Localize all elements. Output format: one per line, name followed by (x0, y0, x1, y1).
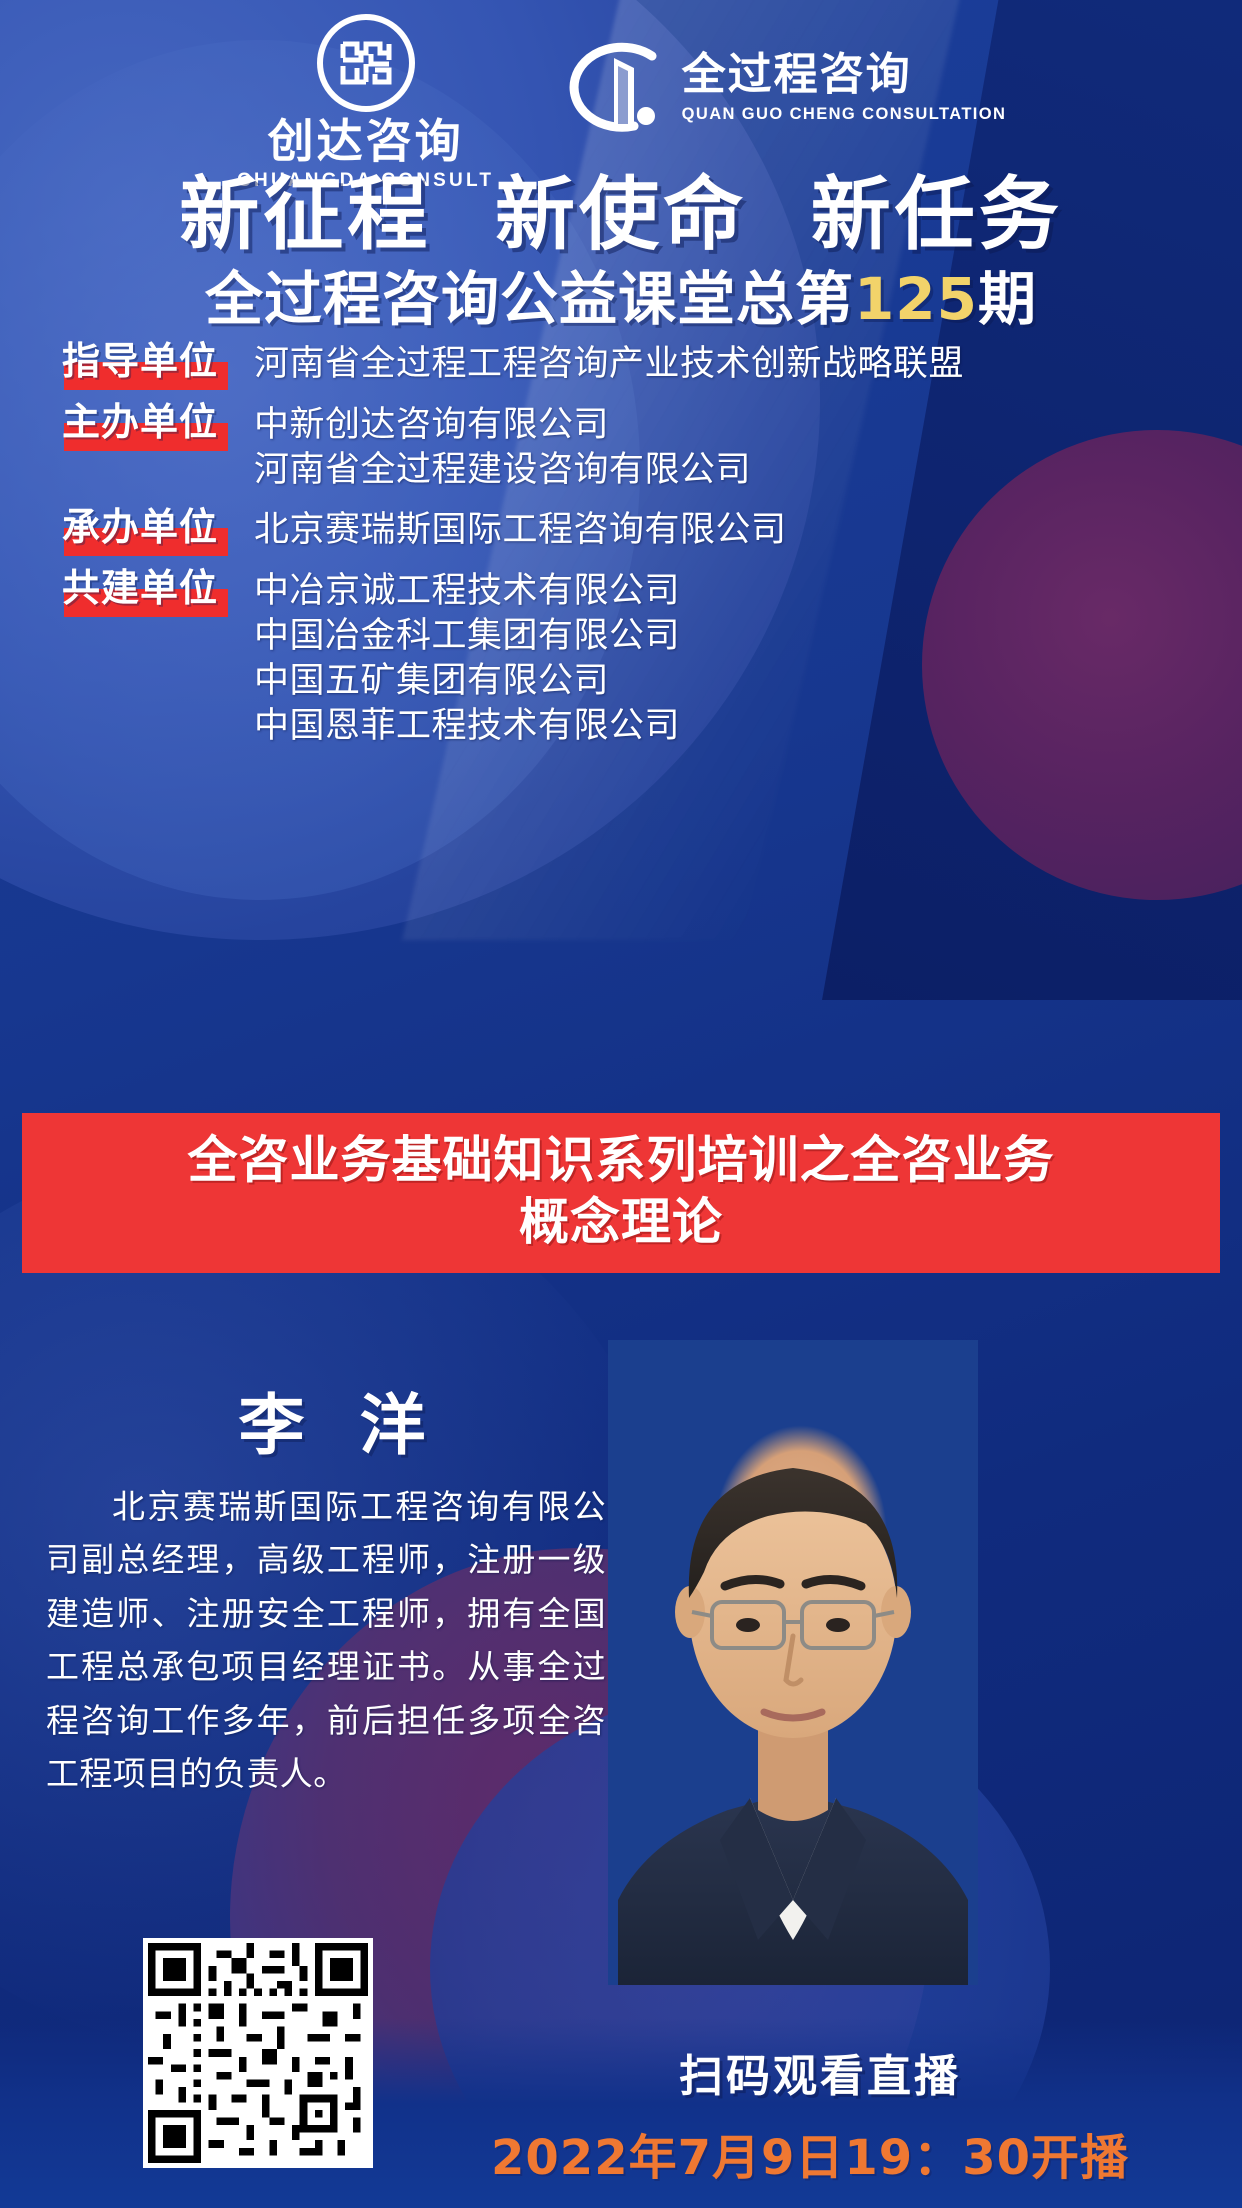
organizer-value: 北京赛瑞斯国际工程咨询有限公司 (254, 508, 787, 553)
organizer-values: 中新创达咨询有限公司 河南省全过程建设咨询有限公司 (254, 401, 751, 493)
speaker-bio: 北京赛瑞斯国际工程咨询有限公司副总经理，高级工程师，注册一级建造师、注册安全工程… (46, 1480, 606, 1801)
organizer-row: 承办单位 北京赛瑞斯国际工程咨询有限公司 (62, 506, 1212, 553)
organizer-tag-label: 主办单位 (62, 403, 234, 443)
poster-root: 创达咨询 CHUANGDA CONSULT 全过程咨询 QUAN GUO CHE… (0, 0, 1242, 2208)
topic-line-1: 全咨业务基础知识系列培训之全咨业务 (46, 1129, 1196, 1191)
topic-line-2: 概念理论 (46, 1191, 1196, 1253)
speaker-name: 李 洋 (60, 1372, 620, 1468)
logo-quanguocheng-cn: 全过程咨询 (682, 52, 1007, 98)
organizer-row: 主办单位 中新创达咨询有限公司 河南省全过程建设咨询有限公司 (62, 401, 1212, 493)
organizer-value: 中国恩菲工程技术有限公司 (254, 704, 680, 749)
scan-to-watch-label: 扫码观看直播 (520, 2040, 1120, 2104)
organizer-value: 河南省全过程建设咨询有限公司 (254, 448, 751, 493)
air-time: 2022年7月9日19：30开播 (440, 2118, 1180, 2188)
seal-emblem-icon (317, 14, 415, 112)
organizer-values: 中冶京诚工程技术有限公司 中国冶金科工集团有限公司 中国五矿集团有限公司 中国恩… (254, 567, 680, 748)
organizer-tag: 共建单位 (62, 567, 234, 609)
organizer-row: 共建单位 中冶京诚工程技术有限公司 中国冶金科工集团有限公司 中国五矿集团有限公… (62, 567, 1212, 748)
organizer-values: 北京赛瑞斯国际工程咨询有限公司 (254, 506, 787, 553)
session-number: 125 (854, 265, 978, 333)
speaker-portrait (608, 1340, 978, 1985)
headline: 新征程 新使命 新任务 (0, 150, 1242, 266)
organizer-tag-label: 共建单位 (62, 569, 234, 609)
poster-content: 创达咨询 CHUANGDA CONSULT 全过程咨询 QUAN GUO CHE… (0, 0, 1242, 2208)
logo-quanguocheng-text: 全过程咨询 QUAN GUO CHENG CONSULTATION (682, 52, 1007, 123)
organizer-value: 中新创达咨询有限公司 (254, 403, 751, 448)
organizer-row: 指导单位 河南省全过程工程咨询产业技术创新战略联盟 (62, 340, 1212, 387)
qr-code-live-stream[interactable] (143, 1938, 373, 2168)
organizer-tag-label: 指导单位 (62, 342, 234, 382)
organizer-tag-label: 承办单位 (62, 508, 234, 548)
organizer-tag: 承办单位 (62, 506, 234, 548)
organizer-tag: 指导单位 (62, 340, 234, 382)
organizer-value: 中冶京诚工程技术有限公司 (254, 569, 680, 614)
organizer-block: 指导单位 河南省全过程工程咨询产业技术创新战略联盟 主办单位 中新创达咨询有限公… (62, 340, 1212, 762)
subheadline: 全过程咨询公益课堂总第125期 (0, 252, 1242, 336)
organizer-values: 河南省全过程工程咨询产业技术创新战略联盟 (254, 340, 964, 387)
topic-banner: 全咨业务基础知识系列培训之全咨业务 概念理论 (22, 1113, 1220, 1273)
subheadline-suffix: 期 (978, 265, 1037, 333)
organizer-tag: 主办单位 (62, 401, 234, 443)
building-circle-icon (556, 36, 668, 140)
organizer-value: 中国五矿集团有限公司 (254, 659, 680, 704)
logo-quanguocheng-en: QUAN GUO CHENG CONSULTATION (682, 105, 1007, 124)
logo-quanguocheng: 全过程咨询 QUAN GUO CHENG CONSULTATION (556, 36, 1007, 140)
organizer-value: 河南省全过程工程咨询产业技术创新战略联盟 (254, 342, 964, 387)
organizer-value: 中国冶金科工集团有限公司 (254, 614, 680, 659)
subheadline-prefix: 全过程咨询公益课堂总第 (205, 265, 854, 333)
